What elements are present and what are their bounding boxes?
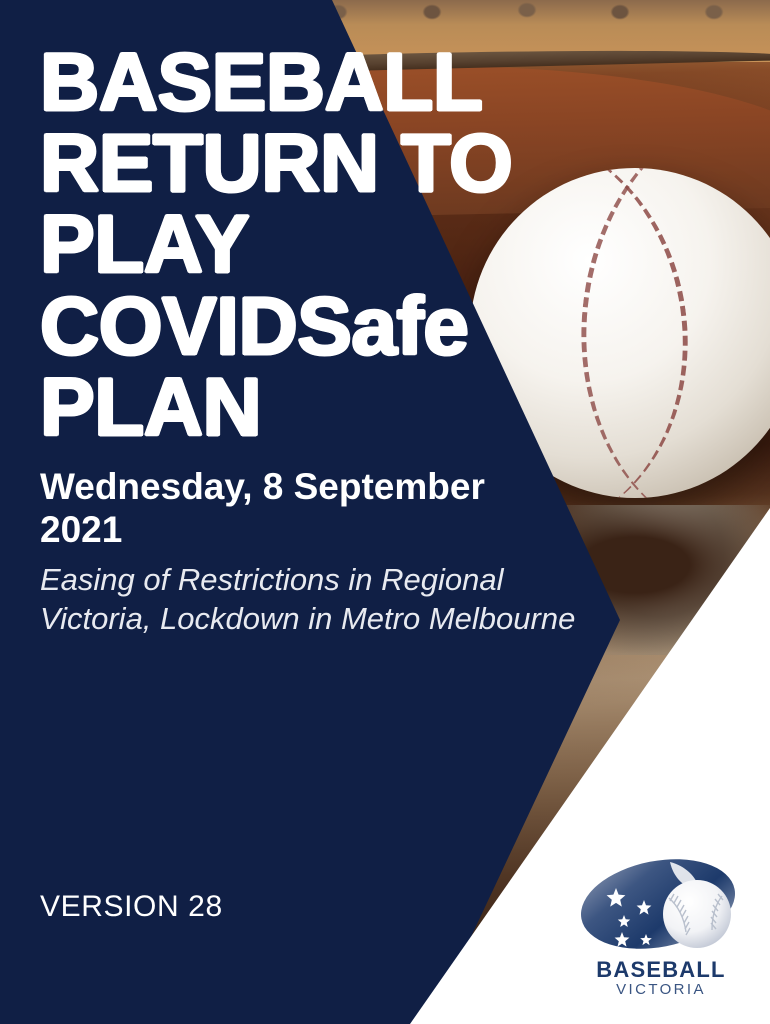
page-title: BASEBALL RETURN TO PLAY COVIDSafe PLAN	[40, 42, 540, 448]
title-line-2: RETURN TO	[40, 123, 540, 204]
title-line-3: PLAY	[40, 204, 540, 285]
logo-mark-icon	[566, 852, 756, 962]
logo-wordmark: BASEBALL	[566, 958, 756, 981]
logo-subtext: VICTORIA	[566, 982, 756, 999]
title-line-5: PLAN	[40, 367, 540, 448]
cover-text-block: BASEBALL RETURN TO PLAY COVIDSafe PLAN W…	[40, 42, 540, 638]
document-cover-page: BASEBALL RETURN TO PLAY COVIDSafe PLAN W…	[0, 0, 770, 1024]
document-subtitle: Easing of Restrictions in Regional Victo…	[40, 560, 600, 638]
document-version: VERSION 28	[40, 890, 223, 924]
baseball-victoria-logo: BASEBALL VICTORIA	[566, 852, 756, 1002]
title-line-1: BASEBALL	[40, 42, 540, 123]
document-date: Wednesday, 8 September 2021	[40, 466, 550, 552]
logo-baseball	[663, 880, 731, 948]
title-line-4: COVIDSafe	[40, 286, 540, 367]
